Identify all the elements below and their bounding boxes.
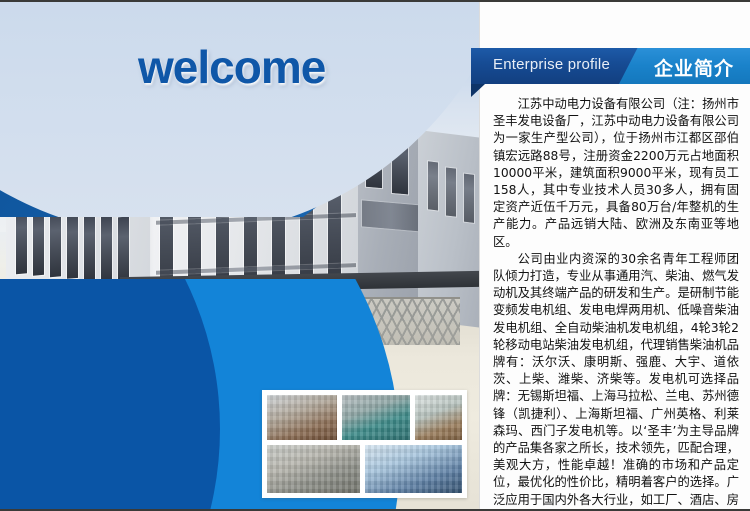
banner-ribbon-tail — [471, 84, 485, 97]
photo-collage — [262, 390, 467, 498]
company-profile-banner: 中动电力 江苏中动电力设备有限公司 Jiangsu Zhongdong Powe… — [0, 0, 750, 511]
right-content-panel: Enterprise profile 企业简介 江苏中动电力设备有限公司（注：扬… — [479, 2, 750, 509]
wave-band-mask — [0, 2, 479, 217]
company-profile-text: 江苏中动电力设备有限公司（注：扬州市圣丰发电设备厂，江苏中动电力设备有限公司为一… — [493, 96, 739, 511]
banner-english-title: Enterprise profile — [493, 56, 610, 73]
profile-paragraph-1: 江苏中动电力设备有限公司（注：扬州市圣丰发电设备厂，江苏中动电力设备有限公司为一… — [493, 96, 739, 251]
section-banner: Enterprise profile 企业简介 — [471, 48, 750, 84]
swoosh-dark-blue — [0, 279, 220, 509]
photo-office-counter — [414, 394, 463, 441]
banner-chinese-title: 企业简介 — [654, 54, 734, 81]
photo-genset-line — [341, 394, 411, 441]
profile-paragraph-2: 公司由业内资深的30余名青年工程师团队倾力打造，专业从事通用汽、柴油、燃气发动机… — [493, 251, 739, 511]
top-left-wave-decoration — [0, 2, 479, 217]
collage-row-top — [266, 394, 463, 441]
photo-meeting-room — [266, 394, 338, 441]
photo-warehouse — [266, 444, 361, 494]
photo-conference — [364, 444, 463, 494]
collage-row-bottom — [266, 444, 463, 494]
welcome-headline: welcome — [138, 40, 325, 94]
left-visual-panel: 中动电力 江苏中动电力设备有限公司 Jiangsu Zhongdong Powe… — [0, 2, 479, 509]
